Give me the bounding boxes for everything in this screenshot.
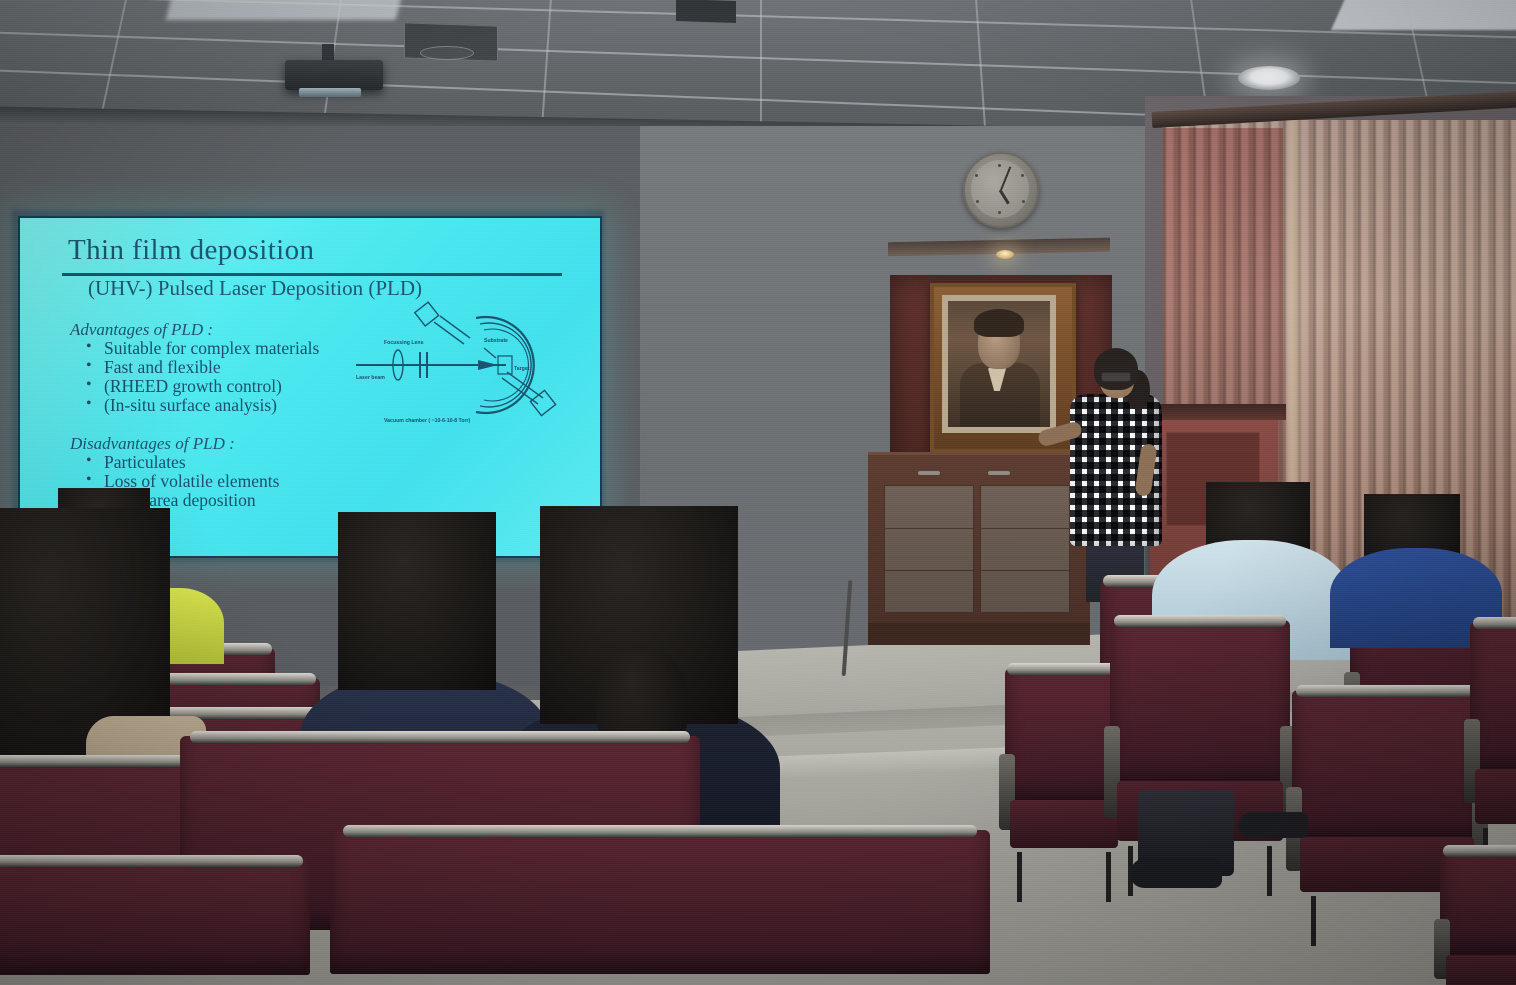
diagram-label-target: Target (514, 366, 530, 372)
list-item: Suitable for complex materials (82, 340, 332, 358)
cabinet-door[interactable] (884, 485, 974, 613)
diagram-label-focussing-lens: Focussing Lens (384, 340, 424, 346)
list-item: Particulates (82, 454, 382, 472)
eyeglasses-icon (1101, 372, 1131, 382)
diagram-label-substrate: Substrate (484, 338, 508, 344)
list-item: (RHEED growth control) (82, 378, 332, 396)
lecture-hall-scene: Thin film deposition (UHV-) Pulsed Laser… (0, 0, 1516, 985)
wall-clock (963, 152, 1039, 228)
list-item: (In-situ surface analysis) (82, 397, 332, 415)
attendee-shoe (1238, 812, 1308, 838)
diagram-label-vacuum-chamber: Vacuum chamber ( ~10-6-10-8 Torr) (384, 418, 471, 424)
cabinet-handle[interactable] (918, 471, 940, 475)
list-item: Fast and flexible (82, 359, 332, 377)
portrait-mat (942, 295, 1056, 433)
ceiling-vent-icon (676, 0, 736, 23)
ceiling-light-panel (1331, 0, 1516, 30)
slide-section-heading-advantages: Advantages of PLD : (70, 320, 213, 340)
chair[interactable] (1470, 622, 1516, 832)
ceiling-tile-line (540, 0, 552, 132)
pld-schematic-diagram: Focussing Lens Substrate Target Laser be… (356, 300, 576, 430)
slide-section-heading-disadvantages: Disadvantages of PLD : (70, 434, 235, 454)
wooden-cabinet[interactable] (868, 452, 1090, 645)
chair[interactable] (1440, 850, 1516, 985)
slide-subtitle: (UHV-) Pulsed Laser Deposition (PLD) (88, 276, 422, 301)
chair[interactable] (330, 830, 990, 985)
presenter-hair (1094, 348, 1138, 390)
ceiling-tile-line (760, 0, 762, 132)
portrait-image (948, 301, 1050, 427)
picture-light-icon (996, 250, 1014, 259)
presenter (1060, 348, 1170, 598)
slide-bullet-list-advantages: Suitable for complex materials Fast and … (82, 340, 332, 415)
attendee-shoe (1130, 858, 1222, 888)
cabinet-base (868, 623, 1090, 645)
ceiling-projector[interactable] (285, 60, 383, 90)
cabinet-handle[interactable] (988, 471, 1010, 475)
diagram-label-laser-beam: Laser beam (356, 375, 385, 381)
cabinet-door[interactable] (980, 485, 1070, 613)
ceiling-speaker-icon (420, 46, 474, 60)
chair[interactable] (0, 860, 310, 985)
recessed-downlight-icon (1238, 66, 1300, 90)
slide-title: Thin film deposition (68, 234, 314, 267)
attendee-center-head (338, 512, 496, 690)
